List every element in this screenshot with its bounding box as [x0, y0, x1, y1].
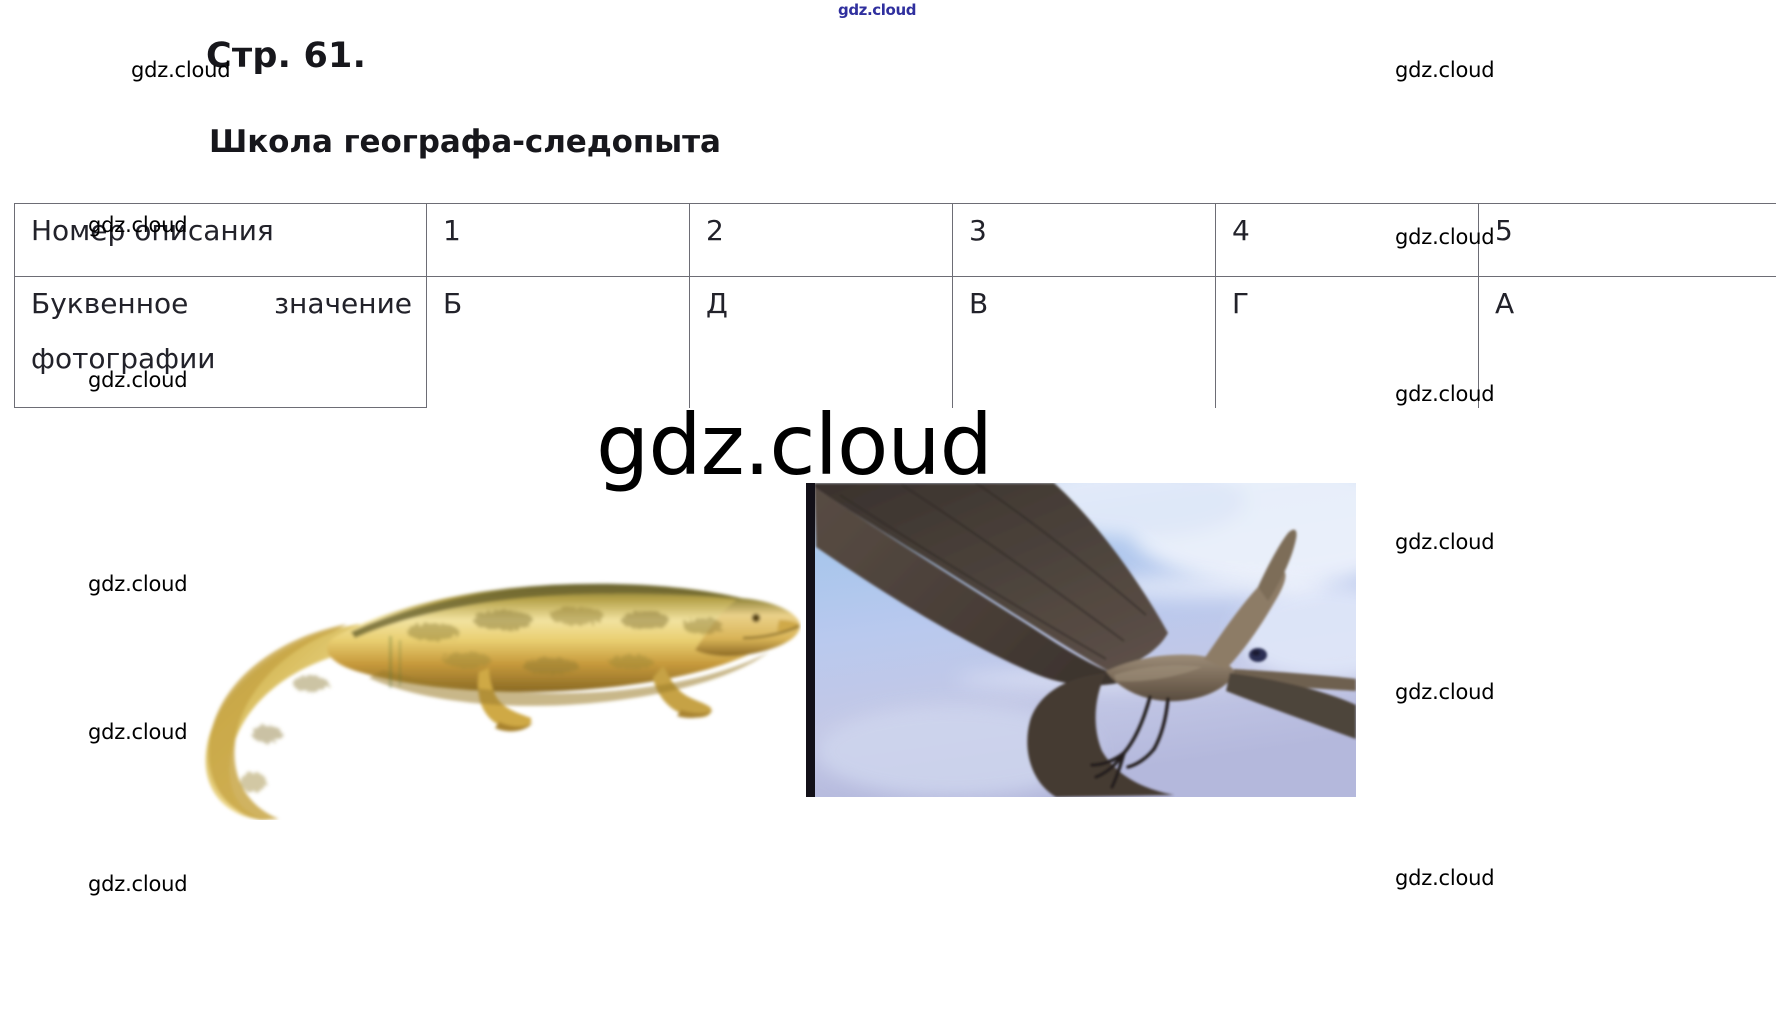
table-cell: 2 [690, 204, 953, 277]
photo-left-border [806, 483, 815, 797]
watermark-wm-left-3: gdz.cloud [88, 368, 187, 392]
watermark-wm-center-big: gdz.cloud [596, 396, 992, 494]
document-page: Стр. 61. Школа географа-следопыта Номер … [0, 0, 1776, 1025]
table-row: Номер описания 1 2 3 4 5 [15, 204, 1776, 277]
table-cell: Д [690, 277, 953, 408]
table-cell: 1 [427, 204, 690, 277]
lizard-photo [183, 520, 801, 820]
lizard-illustration [183, 520, 801, 820]
watermark-wm-top-center: gdz.cloud [838, 1, 916, 19]
watermark-wm-right-6: gdz.cloud [1395, 866, 1494, 890]
watermark-wm-right-5: gdz.cloud [1395, 680, 1494, 704]
table-cell: Б [427, 277, 690, 408]
table-row-label-line1: Буквенное значение [31, 287, 412, 320]
watermark-wm-right-2: gdz.cloud [1395, 225, 1494, 249]
watermark-wm-left-2: gdz.cloud [88, 213, 187, 237]
table-cell: А [1479, 277, 1776, 408]
table-row: Буквенное значениефотографии Б Д В Г А [15, 277, 1776, 408]
table-row-label: Номер описания [15, 204, 427, 277]
watermark-wm-left-6: gdz.cloud [88, 872, 187, 896]
table-cell: 3 [953, 204, 1216, 277]
table-row-label: Буквенное значениефотографии [15, 277, 427, 408]
watermark-wm-right-1: gdz.cloud [1395, 58, 1494, 82]
watermark-wm-left-1: gdz.cloud [131, 58, 230, 82]
section-title: Школа географа-следопыта [209, 124, 721, 160]
pterosaur-photo [806, 483, 1356, 797]
watermark-wm-left-4: gdz.cloud [88, 572, 187, 596]
answer-table: Номер описания 1 2 3 4 5 Буквенное значе… [14, 203, 1776, 408]
pterosaur-illustration [806, 483, 1356, 797]
table-cell: 5 [1479, 204, 1776, 277]
table-cell: В [953, 277, 1216, 408]
watermark-wm-right-4: gdz.cloud [1395, 530, 1494, 554]
watermark-wm-left-5: gdz.cloud [88, 720, 187, 744]
watermark-wm-right-3: gdz.cloud [1395, 382, 1494, 406]
